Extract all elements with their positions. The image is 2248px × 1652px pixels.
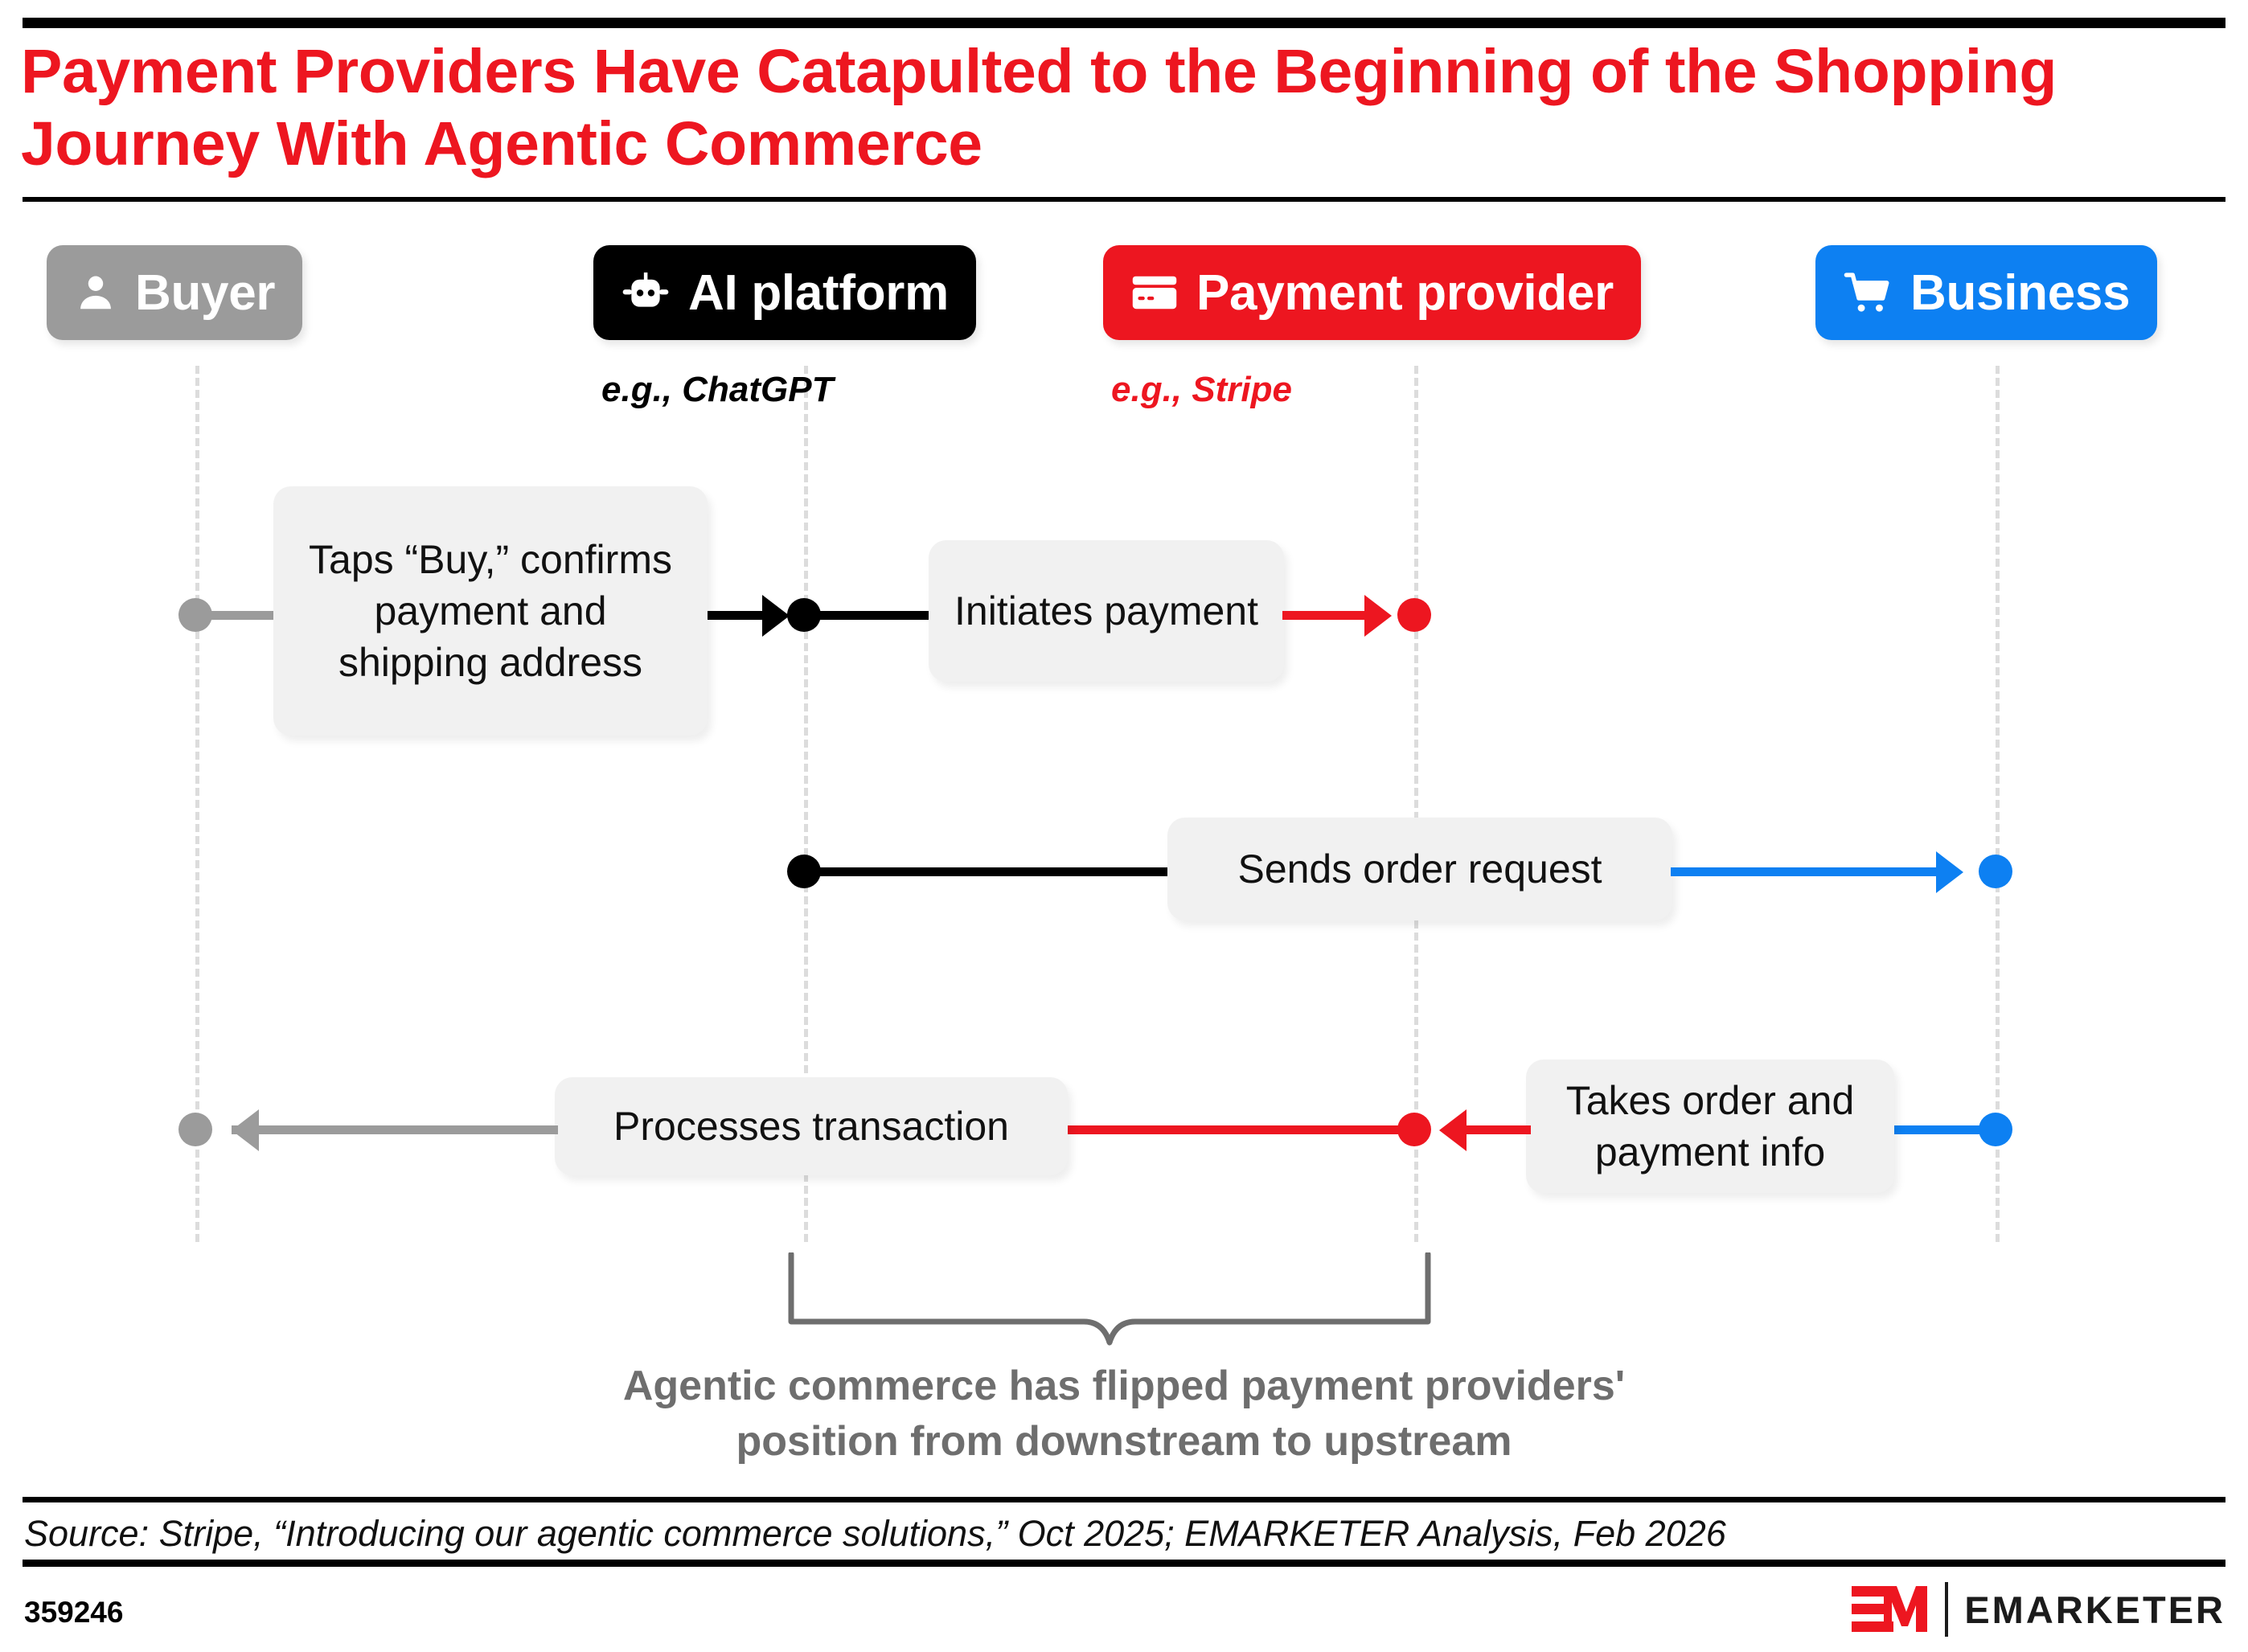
arrowhead-step4-to-payment	[1439, 1109, 1467, 1151]
flow-node-business-row2	[1979, 855, 2012, 888]
actor-badge-buyer[interactable]: Buyer	[47, 245, 302, 340]
robot-icon	[621, 269, 671, 316]
logo-wordmark: EMARKETER	[1964, 1588, 2225, 1632]
chart-canvas: Payment Providers Have Catapulted to the…	[0, 0, 2248, 1652]
lane-buyer	[195, 366, 199, 1242]
flow-line-buyer-to-step1	[195, 611, 276, 620]
header-rule-bottom	[23, 197, 2225, 202]
header-rule-top	[23, 18, 2225, 28]
flow-node-payment-row1	[1397, 598, 1431, 632]
flow-line-payment-to-step5	[1061, 1125, 1415, 1134]
flow-line-step4-to-payment	[1465, 1125, 1531, 1134]
flow-node-buyer-row3	[178, 1113, 212, 1146]
emarketer-logo: EMARKETER	[1852, 1582, 2225, 1637]
source-note: Source: Stripe, “Introducing our agentic…	[24, 1513, 1726, 1555]
flow-line-step5-to-buyer	[232, 1125, 558, 1134]
flow-line-ai-to-step3	[804, 867, 1174, 876]
source-rule-top	[23, 1497, 2225, 1502]
annotation-text: Agentic commerce has flipped payment pro…	[320, 1359, 1928, 1469]
actor-label-ai-platform: AI platform	[688, 264, 949, 322]
actor-label-buyer: Buyer	[135, 264, 275, 322]
lane-payment-provider	[1414, 366, 1418, 1242]
flow-line-step2-to-pay	[1282, 611, 1371, 620]
arrowhead-step5-to-buyer	[232, 1109, 259, 1151]
credit-card-icon	[1130, 272, 1179, 314]
arrowhead-step2-to-pay	[1364, 595, 1392, 637]
annotation-line-1: Agentic commerce has flipped payment pro…	[320, 1359, 1928, 1414]
actor-badge-payment-provider[interactable]: Payment provider	[1103, 245, 1641, 340]
step-box-takes-order-and-payment-info: Takes order and payment info	[1526, 1060, 1894, 1193]
scope-brace	[788, 1252, 1431, 1361]
flow-line-business-to-step4	[1889, 1125, 1996, 1134]
person-icon	[74, 269, 117, 316]
arrowhead-step1-to-ai	[762, 595, 790, 637]
step-box-processes-transaction: Processes transaction	[555, 1077, 1068, 1175]
step-box-sends-order-request: Sends order request	[1167, 818, 1672, 920]
actor-label-payment-provider: Payment provider	[1196, 264, 1614, 322]
shopping-cart-icon	[1843, 270, 1893, 315]
source-rule-bottom	[23, 1560, 2225, 1567]
annotation-line-2: position from downstream to upstream	[320, 1414, 1928, 1470]
lane-business	[1996, 366, 2000, 1242]
actor-badge-business[interactable]: Business	[1815, 245, 2157, 340]
em-mark-icon	[1852, 1584, 1929, 1634]
step-box-initiates-payment: Initiates payment	[929, 540, 1284, 682]
chart-id: 359246	[24, 1596, 123, 1629]
actor-sublabel-ai-platform: e.g., ChatGPT	[601, 370, 833, 410]
step-box-taps-buy: Taps “Buy,” confirms payment and shippin…	[273, 486, 708, 736]
actor-sublabel-payment-provider: e.g., Stripe	[1111, 370, 1292, 410]
logo-divider	[1945, 1582, 1948, 1637]
flow-line-step3-to-business	[1671, 867, 1941, 876]
arrowhead-step3-to-business	[1936, 851, 1963, 893]
actor-badge-ai-platform[interactable]: AI platform	[593, 245, 976, 340]
actor-label-business: Business	[1910, 264, 2130, 322]
page-title: Payment Providers Have Catapulted to the…	[21, 35, 2224, 180]
flow-line-ai-to-step2	[804, 611, 933, 620]
